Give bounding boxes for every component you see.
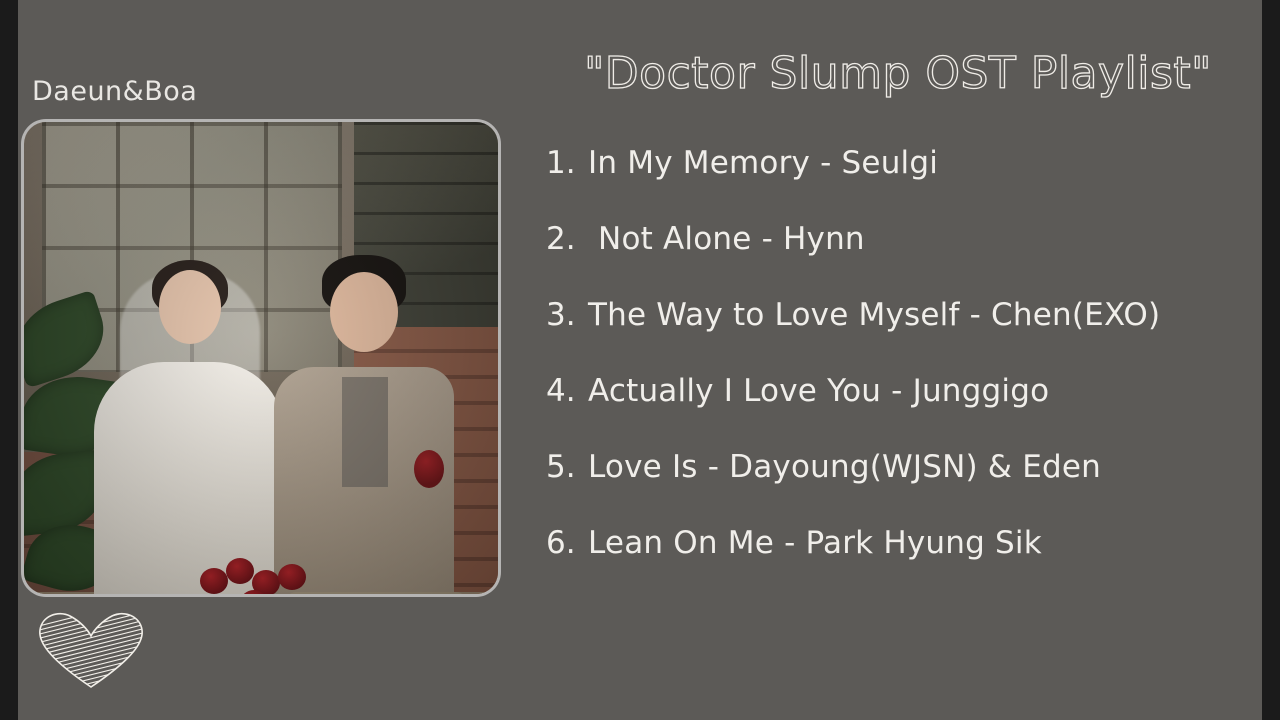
track-number: 6.	[546, 528, 588, 559]
list-item: 1. In My Memory - Seulgi	[546, 148, 1266, 179]
track-title: In My Memory - Seulgi	[588, 148, 938, 179]
list-item: 3. The Way to Love Myself - Chen(EXO)	[546, 300, 1266, 331]
track-title: Love Is - Dayoung(WJSN) & Eden	[588, 452, 1101, 483]
list-item: 4. Actually I Love You - Junggigo	[546, 376, 1266, 407]
left-column: Daeun&Boa	[0, 0, 520, 720]
list-item: 2. Not Alone - Hynn	[546, 224, 1266, 255]
track-title: The Way to Love Myself - Chen(EXO)	[588, 300, 1160, 331]
page-title: "Doctor Slump OST Playlist"	[536, 48, 1260, 99]
playlist-card: Daeun&Boa	[0, 0, 1280, 720]
couple-photo	[24, 122, 498, 594]
track-title: Lean On Me - Park Hyung Sik	[588, 528, 1042, 559]
heart-doodle-icon	[36, 608, 146, 690]
track-title: Not Alone - Hynn	[588, 224, 865, 255]
track-number: 1.	[546, 148, 588, 179]
track-number: 5.	[546, 452, 588, 483]
creator-handle: Daeun&Boa	[32, 76, 197, 107]
track-number: 2.	[546, 224, 588, 255]
track-number: 3.	[546, 300, 588, 331]
list-item: 5. Love Is - Dayoung(WJSN) & Eden	[546, 452, 1266, 483]
track-number: 4.	[546, 376, 588, 407]
list-item: 6. Lean On Me - Park Hyung Sik	[546, 528, 1266, 559]
photo-vignette	[24, 122, 498, 594]
track-title: Actually I Love You - Junggigo	[588, 376, 1049, 407]
photo-canvas	[24, 122, 498, 594]
right-column: "Doctor Slump OST Playlist" 1. In My Mem…	[520, 0, 1280, 720]
track-list: 1. In My Memory - Seulgi 2. Not Alone - …	[546, 148, 1266, 604]
